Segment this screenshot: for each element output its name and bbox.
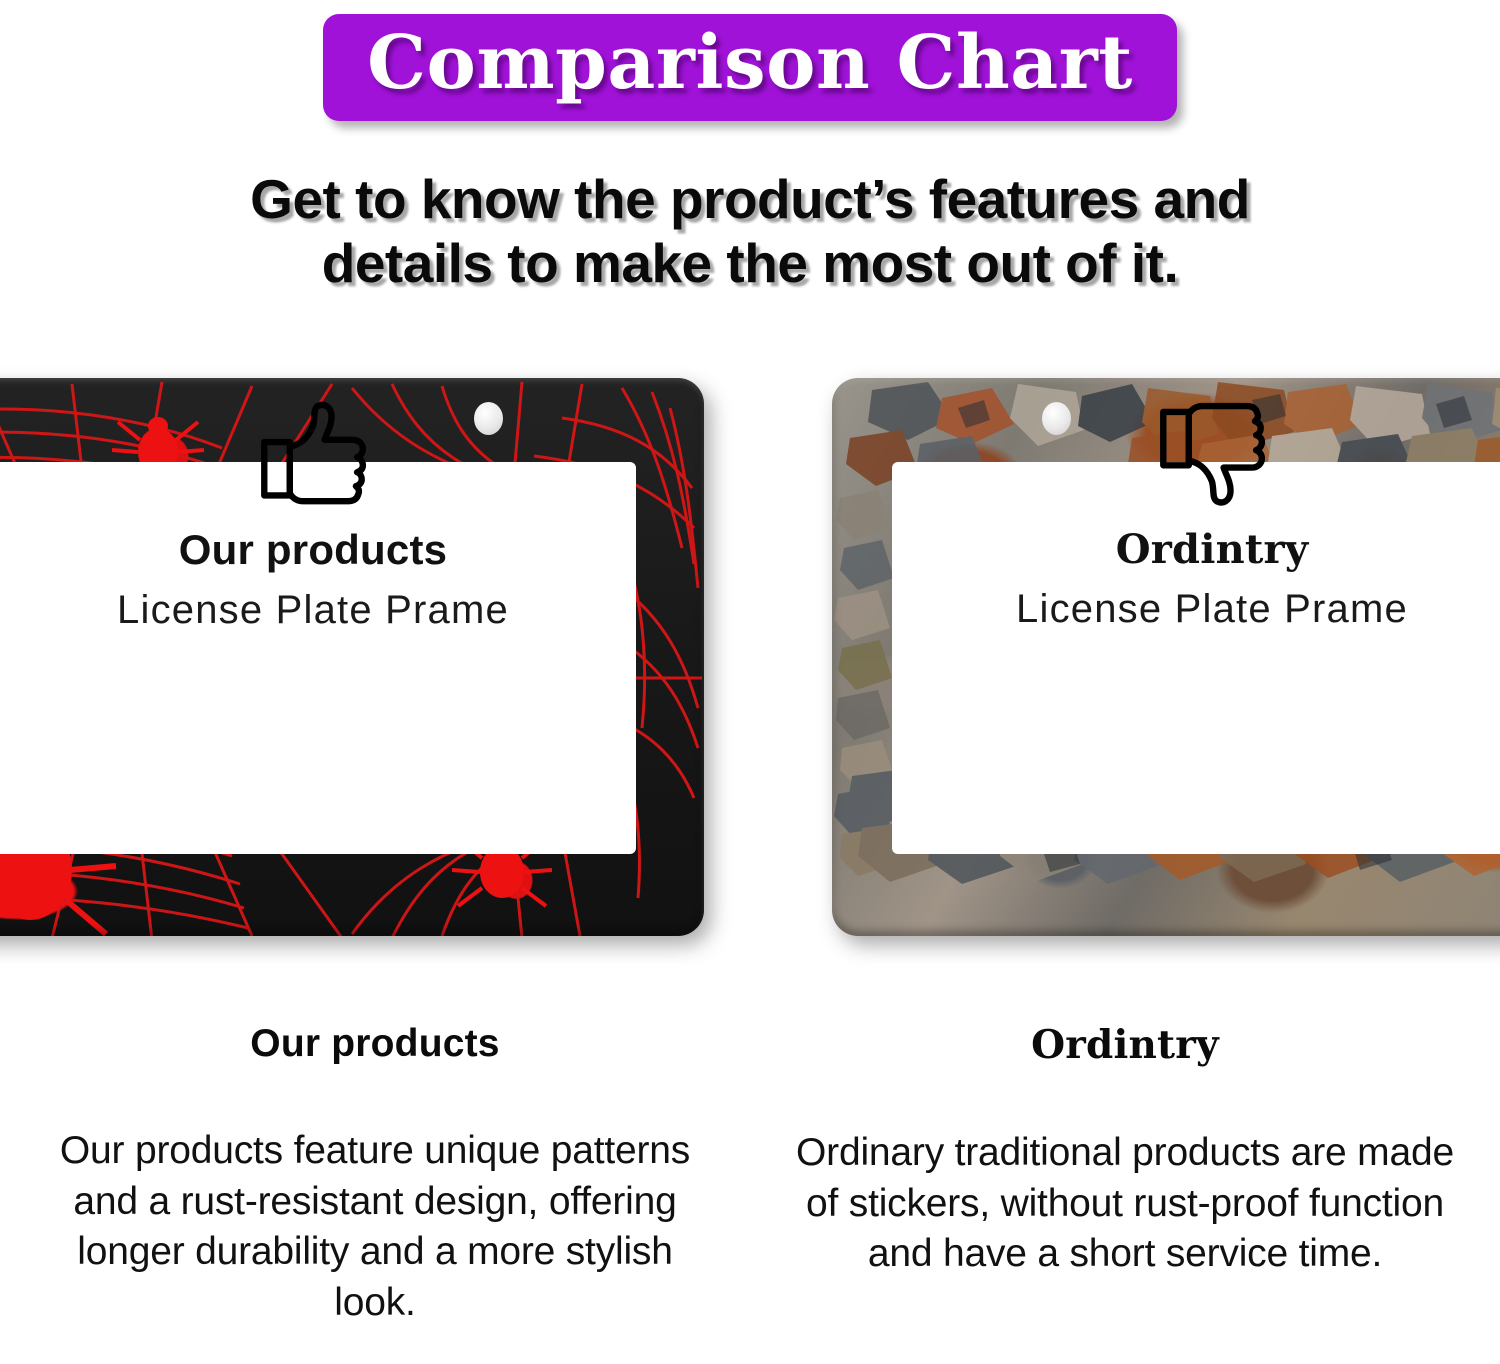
comparison-frames: Our products License Plate Prame [0,378,1500,938]
column-heading-ours: Our products [0,1022,750,1066]
title-banner-wrapper: Comparison Chart [0,14,1500,121]
thumbs-up-icon [255,400,371,512]
plate-title-ordinary: Ordintry [1116,526,1309,573]
subtitle-line-1: Get to know the product’s features and [250,168,1250,230]
plate-title-ours: Our products [179,526,447,574]
product-frame-ours: Our products License Plate Prame [0,378,704,936]
description-column-ordinary: Ordintry Ordinary traditional products a… [750,1022,1500,1364]
column-heading-ordinary: Ordintry [750,1022,1500,1068]
plate-subtitle-ordinary: License Plate Prame [1016,587,1408,632]
product-frame-ordinary: Ordintry License Plate Prame [832,378,1500,936]
description-columns: Our products Our products feature unique… [0,1022,1500,1364]
subtitle-line-2: details to make the most out of it. [0,232,1500,296]
plate-content-ordinary: Ordintry License Plate Prame [832,378,1500,632]
title-banner: Comparison Chart [323,14,1177,121]
thumbs-down-icon [1154,400,1270,512]
page-title: Comparison Chart [367,20,1133,107]
plate-subtitle-ours: License Plate Prame [117,588,509,633]
plate-content-ours: Our products License Plate Prame [0,378,704,633]
description-column-ours: Our products Our products feature unique… [0,1022,750,1364]
column-body-ours: Our products feature unique patterns and… [0,1126,750,1329]
column-body-ordinary: Ordinary traditional products are made o… [750,1128,1500,1280]
subtitle: Get to know the product’s features and d… [0,168,1500,296]
